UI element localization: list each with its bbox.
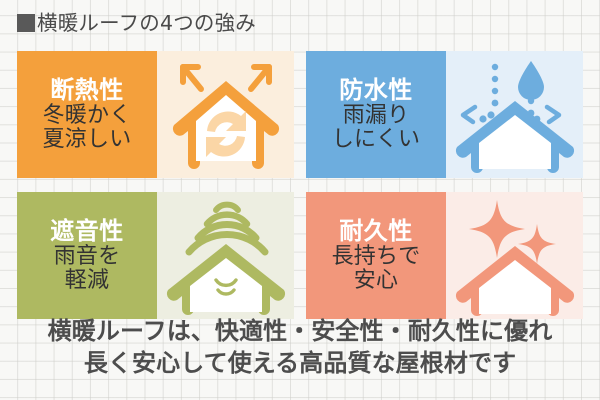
square-bullet-icon: [17, 14, 35, 32]
feature-card-insulation: 断熱性 冬暖かく 夏涼しい: [17, 51, 294, 178]
feature-heading: 遮音性: [50, 218, 124, 245]
feature-subline-2: 安心: [354, 269, 398, 294]
house-sparkle-icon: [446, 192, 583, 319]
page-title: 横暖ルーフの4つの強み: [17, 13, 256, 34]
footer-line-1: 横暖ルーフは、快適性・安全性・耐久性に優れ: [0, 316, 600, 348]
feature-subline-2: 夏涼しい: [43, 128, 132, 153]
footer-copy: 横暖ルーフは、快適性・安全性・耐久性に優れ 長く安心して使える高品質な屋根材です: [0, 316, 600, 380]
feature-card-grid: 断熱性 冬暖かく 夏涼しい: [17, 51, 583, 319]
feature-subline-1: 雨音を: [54, 245, 121, 270]
feature-subline-1: 冬暖かく: [43, 104, 132, 129]
feature-label-insulation: 断熱性 冬暖かく 夏涼しい: [17, 51, 157, 178]
house-thermal-circulation-icon: [157, 51, 294, 178]
feature-heading: 防水性: [339, 77, 413, 104]
feature-subline-1: 長持ちで: [332, 245, 421, 270]
feature-heading: 断熱性: [50, 77, 124, 104]
feature-card-waterproof: 防水性 雨漏り しにくい: [306, 51, 583, 178]
feature-label-durability: 耐久性 長持ちで 安心: [306, 192, 446, 319]
droplet-shape: [518, 61, 544, 100]
house-sound-waves-icon: [157, 192, 294, 319]
infographic-page: 横暖ルーフの4つの強み 断熱性 冬暖かく 夏涼しい: [0, 0, 600, 400]
page-title-text: 横暖ルーフの4つの強み: [37, 13, 256, 34]
feature-heading: 耐久性: [339, 218, 413, 245]
feature-subline-2: しにくい: [332, 128, 420, 153]
feature-subline-2: 軽減: [65, 269, 109, 294]
feature-label-soundproof: 遮音性 雨音を 軽減: [17, 192, 157, 319]
feature-card-durability: 耐久性 長持ちで 安心: [306, 192, 583, 319]
house-water-droplet-icon: [446, 51, 583, 178]
feature-subline-1: 雨漏り: [343, 104, 410, 129]
footer-line-2: 長く安心して使える高品質な屋根材です: [0, 348, 600, 380]
feature-card-soundproof: 遮音性 雨音を 軽減: [17, 192, 294, 319]
feature-label-waterproof: 防水性 雨漏り しにくい: [306, 51, 446, 178]
